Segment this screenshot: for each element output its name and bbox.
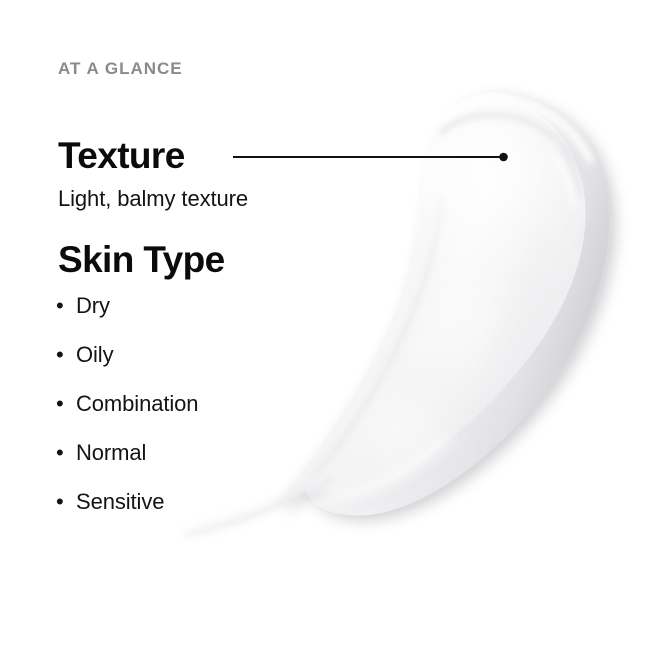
bullet-icon: • [56,491,76,513]
bullet-icon: • [56,442,76,464]
list-item: • Combination [56,393,336,442]
callout-endpoint-dot [499,153,508,162]
section-eyebrow: AT A GLANCE [58,60,183,77]
list-item: • Oily [56,344,336,393]
texture-description: Light, balmy texture [58,188,248,210]
bullet-icon: • [56,295,76,317]
skin-type-heading: Skin Type [58,241,225,278]
list-item-label: Oily [76,344,114,366]
list-item: • Dry [56,295,336,344]
list-item-label: Normal [76,442,146,464]
list-item: • Normal [56,442,336,491]
list-item: • Sensitive [56,491,336,540]
bullet-icon: • [56,393,76,415]
texture-heading: Texture [58,137,185,174]
list-item-label: Dry [76,295,110,317]
list-item-label: Combination [76,393,198,415]
skin-type-list: • Dry • Oily • Combination • Normal • Se… [56,295,336,540]
at-a-glance-panel: AT A GLANCE Texture Light, balmy texture… [0,0,650,650]
list-item-label: Sensitive [76,491,164,513]
bullet-icon: • [56,344,76,366]
